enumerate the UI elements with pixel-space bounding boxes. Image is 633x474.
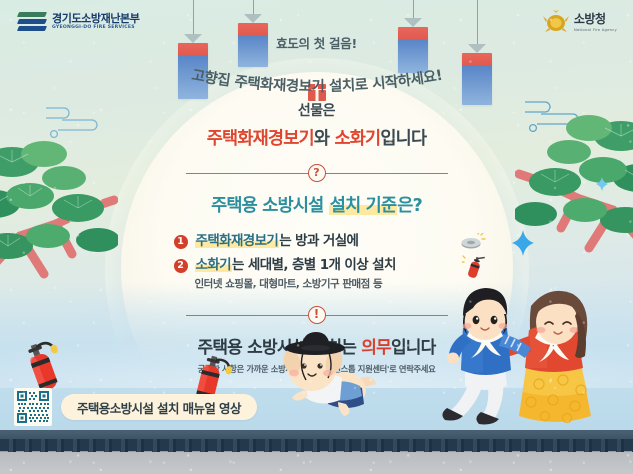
headline-arc-wrap: 고향집 주택화재경보기 설치로 시작하세요! xyxy=(0,44,633,104)
list-item-number: 1 xyxy=(174,235,188,249)
list-item-main: 주택화재경보기는 방과 거실에 xyxy=(195,233,460,250)
duty-suffix: 입니다 xyxy=(391,338,436,358)
manual-video-banner[interactable]: 주택용소방시설 설치 매뉴얼 영상 xyxy=(61,394,257,420)
manual-video-banner-text: 주택용소방시설 설치 매뉴얼 영상 xyxy=(77,398,241,417)
list-item-rest: 는 세대별, 층별 1개 이상 설치 xyxy=(232,257,396,273)
garuda-emblem-icon xyxy=(543,10,569,34)
nfa-logo-english: National Fire Agency xyxy=(574,27,617,32)
gyeonggi-logo-korean: 경기도소방재난본부 xyxy=(52,13,139,25)
gyeonggi-do-fire-services-logo: 경기도소방재난본부 GYEONGGI-DO FIRE SERVICES xyxy=(18,12,139,31)
list-item-highlight: 소화기 xyxy=(195,257,232,273)
qr-code[interactable] xyxy=(14,388,52,426)
footer-qr-row[interactable]: 주택용소방시설 설치 매뉴얼 영상 xyxy=(14,388,257,426)
gyeonggi-logo-english: GYEONGGI-DO FIRE SERVICES xyxy=(52,25,139,30)
hanbok-characters xyxy=(435,276,621,430)
svg-text:고향집 주택화재경보기 설치로 시작하세요!: 고향집 주택화재경보기 설치로 시작하세요! xyxy=(190,68,443,95)
poster-root: 경기도소방재난본부 GYEONGGI-DO FIRE SERVICES 소방청 … xyxy=(0,0,633,474)
list-item-number: 2 xyxy=(174,259,188,273)
dog-mascot-with-gat-hat xyxy=(272,328,380,432)
question-title-prefix: 주택용 소방시설 xyxy=(211,196,329,216)
list-item-main: 소화기는 세대별, 층별 1개 이상 설치 xyxy=(195,257,460,274)
nfa-logo-korean: 소방청 xyxy=(574,13,617,25)
national-fire-agency-logo: 소방청 National Fire Agency xyxy=(543,10,617,34)
list-item-rest: 는 방과 거실에 xyxy=(279,233,358,249)
list-item-highlight: 주택화재경보기 xyxy=(195,233,280,249)
divider-question: ? xyxy=(186,164,448,182)
question-title-highlight: 설치 기준 xyxy=(329,196,398,216)
requirements-list: 1 주택화재경보기는 방과 거실에 2 xyxy=(174,233,460,291)
gyeonggi-logo-mark-icon xyxy=(18,12,46,31)
roof-tile-footer xyxy=(0,430,633,474)
smoke-detector-icon xyxy=(460,233,486,253)
question-badge-icon: ? xyxy=(308,164,326,182)
list-item-sub: 인터넷 쇼핑몰, 대형마트, 소방기구 판매점 등 xyxy=(195,276,460,291)
gift-plain-2: 입니다 xyxy=(380,129,426,149)
gift-line2: 주택화재경보기와 소화기입니다 xyxy=(0,125,633,150)
exclamation-badge-icon: ! xyxy=(308,306,326,324)
divider-duty: ! xyxy=(186,306,448,324)
hanbok-boy-character xyxy=(442,288,531,424)
question-title-suffix: 은? xyxy=(397,196,422,216)
question-title: 주택용 소방시설 설치 기준은? xyxy=(0,192,633,217)
list-item: 1 주택화재경보기는 방과 거실에 xyxy=(174,233,460,250)
list-item: 2 소화기는 세대별, 층별 1개 이상 설치 인터넷 쇼핑몰, 대형마트, 소… xyxy=(174,257,460,291)
gift-plain-1: 와 xyxy=(314,129,335,149)
gift-emph-2: 소화기 xyxy=(334,129,380,149)
gift-emph-1: 주택화재경보기 xyxy=(207,129,314,149)
